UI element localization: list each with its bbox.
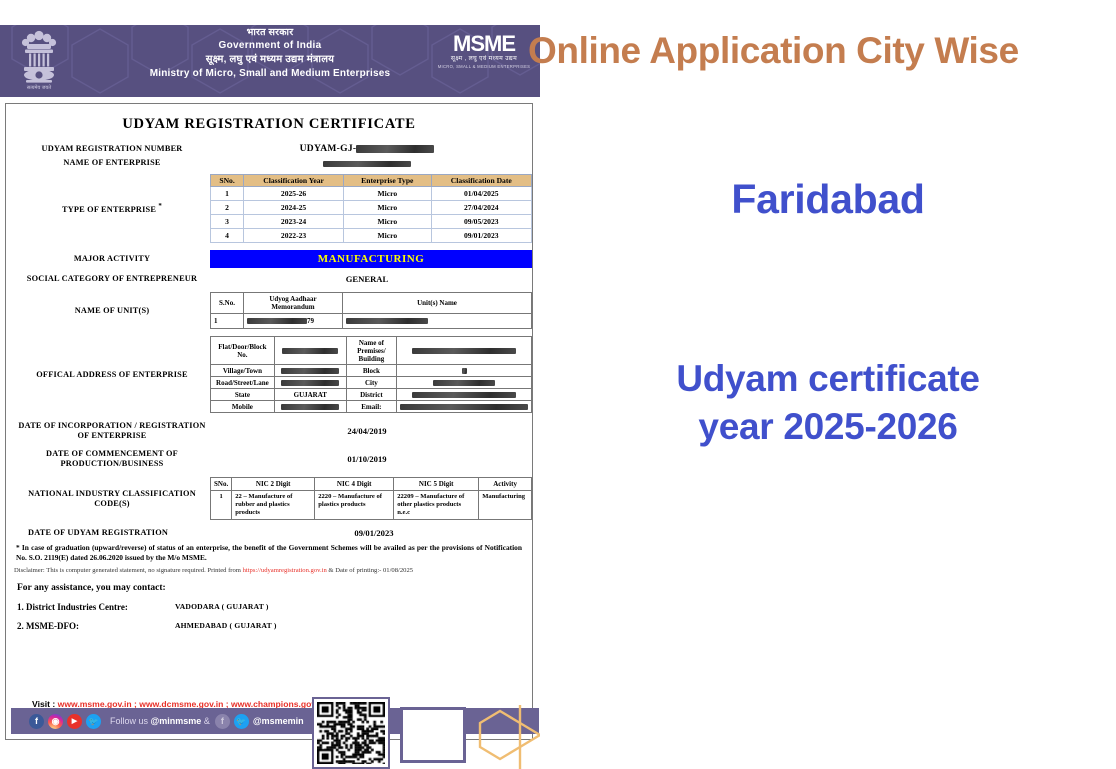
msme-logo-mark: MSME [436,33,532,55]
col-activity: Activity [479,478,532,491]
date-incorporation-value: 24/04/2019 [210,426,524,436]
uam-redaction [247,318,307,324]
msme-dfo-value: AHMEDABAD ( GUJARAT ) [175,621,277,631]
table-row: 3 2023-24 Micro 09/05/2023 [211,215,532,229]
mobile-redaction [281,404,339,410]
youtube-icon[interactable]: ▶ [67,714,82,729]
certificate-year-line-2: year 2025-2026 [540,403,1116,451]
cell-nic-2: 22 – Manufacture of rubber and plastics … [232,491,315,520]
name-of-units-label: NAME OF UNIT(S) [14,306,210,316]
addr-key-village: Village/Town [211,365,275,377]
addr-val-city [397,377,532,389]
assistance-heading: For any assistance, you may contact: [17,583,524,593]
cell-nic-5: 22209 – Manufacture of other plastics pr… [394,491,479,520]
major-activity-value: MANUFACTURING [210,250,532,268]
page-title-online-application: Online Application City Wise [528,30,1116,72]
col-classification-year: Classification Year [244,175,344,187]
table-row: 1 79 [211,314,532,329]
flat-redaction [282,348,338,354]
cell-type: Micro [344,187,432,201]
right-text-panel: Online Application City Wise Faridabad U… [540,0,1116,753]
cell-date: 27/04/2024 [431,201,531,215]
date-commencement-label: DATE OF COMMENCEMENT OF PRODUCTION/BUSIN… [14,449,210,469]
msme-logo-subtitle-english: MICRO, SMALL & MEDIUM ENTERPRISES [436,63,532,70]
type-of-enterprise-row: TYPE OF ENTERPRISE * SNo. Classification… [14,174,524,243]
road-redaction [281,380,339,386]
nic-value: SNo. NIC 2 Digit NIC 4 Digit NIC 5 Digit… [210,477,532,520]
cell-sno: 3 [211,215,244,229]
uam-suffix: 79 [307,317,314,325]
addr-val-block [397,365,532,377]
official-address-row: OFFICAL ADDRESS OF ENTERPRISE Flat/Door/… [14,336,524,413]
addr-key-email: Email: [346,401,396,413]
addr-key-flat: Flat/Door/Block No. [211,337,275,365]
follow-prefix: Follow us [110,716,151,726]
address-table: Flat/Door/Block No. Name of Premises/ Bu… [210,336,532,413]
cell-year: 2023-24 [244,215,344,229]
qr-code-canvas [317,702,385,764]
facebook-icon[interactable]: f [215,714,230,729]
date-incorporation-label: DATE OF INCORPORATION / REGISTRATION OF … [14,421,210,441]
addr-val-flat [274,337,346,365]
registration-number-redaction [356,145,434,153]
table-row: 2 2024-25 Micro 27/04/2024 [211,201,532,215]
table-header-row: SNo. Classification Year Enterprise Type… [211,175,532,187]
blank-placeholder-box [400,707,466,763]
ampersand: & [201,716,210,726]
district-industries-centre-value: VADODARA ( GUJARAT ) [175,602,269,612]
district-industries-centre-label: 1. District Industries Centre: [17,602,175,612]
col-classification-date: Classification Date [431,175,531,187]
block-redaction [462,368,467,374]
email-redaction [400,404,528,410]
msme-dfo-label: 2. MSME-DFO: [17,621,175,631]
city-redaction [433,380,495,386]
handle-minmsme: @minmsme [151,716,202,726]
cell-type: Micro [344,215,432,229]
cell-date: 09/05/2023 [431,215,531,229]
addr-key-state: State [211,389,275,401]
registration-number-value: UDYAM-GJ- [210,143,524,154]
col-enterprise-type: Enterprise Type [344,175,432,187]
col-sno: SNo. [211,478,232,491]
addr-key-premises: Name of Premises/ Building [346,337,396,365]
nic-row: NATIONAL INDUSTRY CLASSIFICATION CODE(S)… [14,477,524,520]
addr-key-road: Road/Street/Lane [211,377,275,389]
government-header-band: सत्यमेव जयते भारत सरकार Government of In… [0,25,540,97]
cell-year: 2025-26 [244,187,344,201]
instagram-icon[interactable]: ◉ [48,714,63,729]
cell-unit-name [343,314,532,329]
enterprise-name-row: NAME OF ENTERPRISE [14,158,524,168]
cell-sno: 2 [211,201,244,215]
official-address-value: Flat/Door/Block No. Name of Premises/ Bu… [210,336,532,413]
facebook-icon[interactable]: f [29,714,44,729]
addr-key-block: Block [346,365,396,377]
table-row: 1 2025-26 Micro 01/04/2025 [211,187,532,201]
col-nic-4: NIC 4 Digit [315,478,394,491]
qr-code-icon[interactable] [312,697,390,769]
unit-table: S.No. Udyog Aadhaar Memorandum Unit(s) N… [210,292,532,329]
hexagon-decoration-icon [466,705,540,769]
enterprise-name-label: NAME OF ENTERPRISE [14,158,210,168]
col-sno: S.No. [211,293,244,314]
twitter-icon[interactable]: 🐦 [234,714,249,729]
disclaimer-text-before: Disclaimer: This is computer generated s… [14,567,243,574]
graduation-note: * In case of graduation (upward/reverse)… [16,543,522,563]
major-activity-label: MAJOR ACTIVITY [14,254,210,264]
cell-activity: Manufacturing [479,491,532,520]
table-row: Road/Street/Lane City [211,377,532,389]
msme-logo: MSME सूक्ष्म , लघु एवं मध्यम उद्यम MICRO… [436,33,532,79]
col-udyog-aadhaar: Udyog Aadhaar Memorandum [244,293,343,314]
disclaimer-text-after: & Date of printing:- 01/08/2025 [327,567,413,574]
date-udyam-value: 09/01/2023 [224,528,524,538]
addr-val-premises [397,337,532,365]
enterprise-name-value [210,158,524,168]
assistance-item: 1. District Industries Centre: VADODARA … [17,602,524,612]
date-udyam-label: DATE OF UDYAM REGISTRATION [14,528,224,538]
nic-label: NATIONAL INDUSTRY CLASSIFICATION CODE(S) [14,489,210,509]
addr-val-mobile [274,401,346,413]
name-of-units-row: NAME OF UNIT(S) S.No. Udyog Aadhaar Memo… [14,292,524,329]
major-activity-row: MAJOR ACTIVITY MANUFACTURING [14,250,524,268]
enterprise-name-redaction [323,161,411,167]
cell-date: 09/01/2023 [431,229,531,243]
addr-key-mobile: Mobile [211,401,275,413]
cell-sno: 1 [211,491,232,520]
msme-logo-subtitle-hindi: सूक्ष्म , लघु एवं मध्यम उद्यम [436,55,532,63]
cell-year: 2022-23 [244,229,344,243]
date-commencement-row: DATE OF COMMENCEMENT OF PRODUCTION/BUSIN… [14,449,524,469]
official-address-label: OFFICAL ADDRESS OF ENTERPRISE [14,370,210,380]
assistance-item: 2. MSME-DFO: AHMEDABAD ( GUJARAT ) [17,621,524,631]
type-of-enterprise-value: SNo. Classification Year Enterprise Type… [210,174,532,243]
date-commencement-value: 01/10/2019 [210,454,524,464]
cell-nic-4: 2220 – Manufacture of plastics products [315,491,394,520]
district-redaction [412,392,516,398]
certificate-title: UDYAM REGISTRATION CERTIFICATE [14,116,524,133]
cell-year: 2024-25 [244,201,344,215]
unit-name-redaction [346,318,428,324]
certificate-body: UDYAM REGISTRATION CERTIFICATE UDYAM REG… [5,103,533,740]
social-category-row: SOCIAL CATEGORY OF ENTREPRENEUR GENERAL [14,274,524,284]
table-row: 1 22 – Manufacture of rubber and plastic… [211,491,532,520]
cell-sno: 4 [211,229,244,243]
cell-type: Micro [344,229,432,243]
cell-date: 01/04/2025 [431,187,531,201]
social-category-label: SOCIAL CATEGORY OF ENTREPRENEUR [14,274,210,284]
village-redaction [281,368,339,374]
col-nic-2: NIC 2 Digit [232,478,315,491]
cell-sno: 1 [211,314,244,329]
city-name-heading: Faridabad [540,176,1116,223]
col-nic-5: NIC 5 Digit [394,478,479,491]
addr-val-village [274,365,346,377]
udyam-certificate-image: सत्यमेव जयते भारत सरकार Government of In… [0,25,540,753]
date-udyam-row: DATE OF UDYAM REGISTRATION 09/01/2023 [14,528,524,538]
major-activity-value-wrap: MANUFACTURING [210,250,532,268]
addr-val-road [274,377,346,389]
svg-text:सत्यमेव जयते: सत्यमेव जयते [27,84,51,91]
cell-type: Micro [344,201,432,215]
type-of-enterprise-label: TYPE OF ENTERPRISE * [14,202,210,215]
type-of-enterprise-star: * [158,203,162,210]
addr-key-city: City [346,377,396,389]
certificate-year-line-1: Udyam certificate [540,355,1116,403]
col-unit-name: Unit(s) Name [343,293,532,314]
disclaimer-line: Disclaimer: This is computer generated s… [14,566,524,575]
registration-number-label: UDYAM REGISTRATION NUMBER [14,144,210,154]
addr-val-district [397,389,532,401]
table-row: Village/Town Block [211,365,532,377]
table-header-row: S.No. Udyog Aadhaar Memorandum Unit(s) N… [211,293,532,314]
type-of-enterprise-label-text: TYPE OF ENTERPRISE [62,205,156,214]
col-sno: SNo. [211,175,244,187]
cell-sno: 1 [211,187,244,201]
name-of-units-value: S.No. Udyog Aadhaar Memorandum Unit(s) N… [210,292,532,329]
addr-val-email [397,401,532,413]
cell-uam: 79 [244,314,343,329]
nic-table: SNo. NIC 2 Digit NIC 4 Digit NIC 5 Digit… [210,477,532,520]
udyam-registration-link[interactable]: https://udyamregistration.gov.in [243,567,327,574]
table-row: Flat/Door/Block No. Name of Premises/ Bu… [211,337,532,365]
addr-key-district: District [346,389,396,401]
twitter-icon[interactable]: 🐦 [86,714,101,729]
certificate-year-heading: Udyam certificate year 2025-2026 [540,355,1116,451]
table-row: State GUJARAT District [211,389,532,401]
date-incorporation-row: DATE OF INCORPORATION / REGISTRATION OF … [14,421,524,441]
handle-msmemin: @msmemin [253,716,304,726]
premises-redaction [412,348,516,354]
social-category-value: GENERAL [210,274,524,284]
registration-number-prefix: UDYAM-GJ- [300,144,357,154]
addr-val-state: GUJARAT [274,389,346,401]
table-row: 4 2022-23 Micro 09/01/2023 [211,229,532,243]
classification-table: SNo. Classification Year Enterprise Type… [210,174,532,243]
table-header-row: SNo. NIC 2 Digit NIC 4 Digit NIC 5 Digit… [211,478,532,491]
table-row: Mobile Email: [211,401,532,413]
registration-number-row: UDYAM REGISTRATION NUMBER UDYAM-GJ- [14,143,524,154]
follow-us-text: Follow us @minmsme & [110,716,210,726]
